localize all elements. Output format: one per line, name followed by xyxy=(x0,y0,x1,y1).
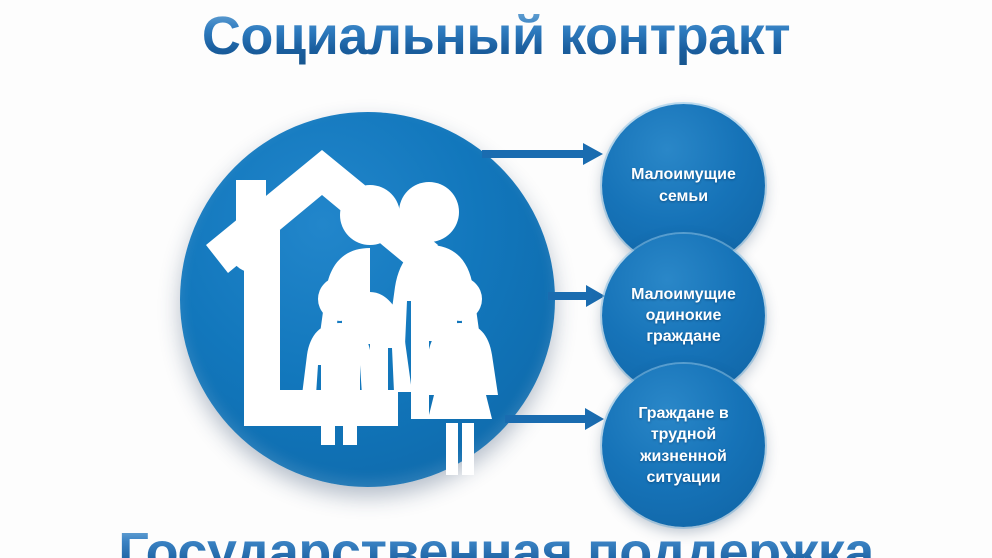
arrow-to-bubble-3 xyxy=(505,406,605,432)
bubble-label: Граждане в трудной жизненной ситуации xyxy=(638,403,728,488)
central-badge xyxy=(180,112,555,487)
arrow-to-bubble-1 xyxy=(482,141,604,167)
page-subtitle: Государственная поддержка xyxy=(0,524,992,558)
house-with-family-icon xyxy=(180,112,555,487)
page-title: Социальный контракт xyxy=(0,8,992,65)
category-bubble-citizens-in-difficult-situation[interactable]: Граждане в трудной жизненной ситуации xyxy=(602,364,765,527)
slide-canvas: Социальный контракт xyxy=(0,0,992,558)
bubble-label: Малоимущие одинокие граждане xyxy=(631,284,736,348)
bubble-label: Малоимущие семьи xyxy=(631,164,736,207)
arrow-to-bubble-2 xyxy=(548,283,606,309)
